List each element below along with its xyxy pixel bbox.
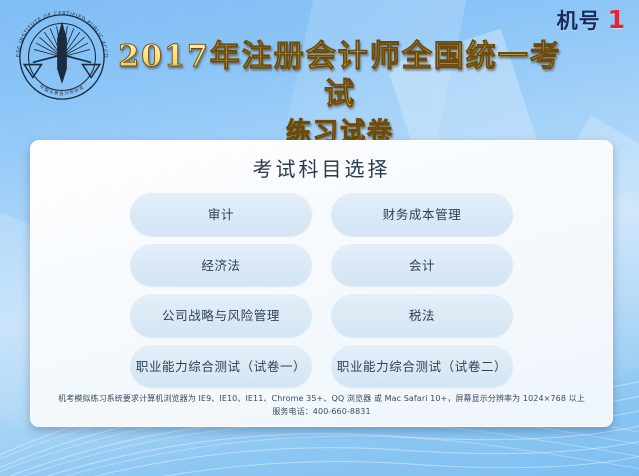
subject-button-accounting[interactable]: 会计 bbox=[331, 243, 513, 287]
subject-button-grid: 审计 财务成本管理 经济法 会计 公司战略与风险管理 税法 职业能力综合测试（试… bbox=[54, 192, 589, 387]
exam-selection-screen: THE CHINESE INSTITUTE OF CERTIFIED PUBLI… bbox=[0, 0, 639, 476]
exam-main-title: 2017年注册会计师全国统一考试 bbox=[105, 38, 575, 113]
logo-scale-pan-left bbox=[24, 65, 41, 78]
machine-number-badge: 机号 1 bbox=[557, 5, 625, 35]
subject-selection-card: 考试科目选择 审计 财务成本管理 经济法 会计 公司战略与风险管理 税法 职业能… bbox=[30, 140, 613, 427]
cicpa-seal-logo: THE CHINESE INSTITUTE OF CERTIFIED PUBLI… bbox=[8, 3, 116, 111]
footer-service-phone-line: 服务电话：400-660-8831 bbox=[54, 406, 589, 418]
footer-requirements-line: 机考模拟练习系统要求计算机浏览器为 IE9、IE10、IE11、Chrome 3… bbox=[54, 393, 589, 405]
card-heading: 考试科目选择 bbox=[54, 153, 589, 182]
machine-number-label: 机号 bbox=[557, 5, 601, 35]
card-footer-notice: 机考模拟练习系统要求计算机浏览器为 IE9、IE10、IE11、Chrome 3… bbox=[54, 387, 589, 418]
logo-quill-blade bbox=[57, 21, 67, 84]
title-block: 2017年注册会计师全国统一考试 练习试卷 bbox=[105, 38, 575, 147]
subject-button-tax-law[interactable]: 税法 bbox=[331, 293, 513, 337]
subject-button-comprehensive-2[interactable]: 职业能力综合测试（试卷二） bbox=[331, 344, 513, 388]
subject-button-financial-cost-mgmt[interactable]: 财务成本管理 bbox=[331, 192, 513, 236]
subject-button-economic-law[interactable]: 经济法 bbox=[130, 243, 312, 287]
subject-button-corp-strategy-risk[interactable]: 公司战略与风险管理 bbox=[130, 293, 312, 337]
subject-button-audit[interactable]: 审计 bbox=[130, 192, 312, 236]
subject-button-comprehensive-1[interactable]: 职业能力综合测试（试卷一） bbox=[130, 344, 312, 388]
logo-scale-pan-right bbox=[83, 65, 100, 78]
machine-number-value: 1 bbox=[608, 5, 625, 34]
